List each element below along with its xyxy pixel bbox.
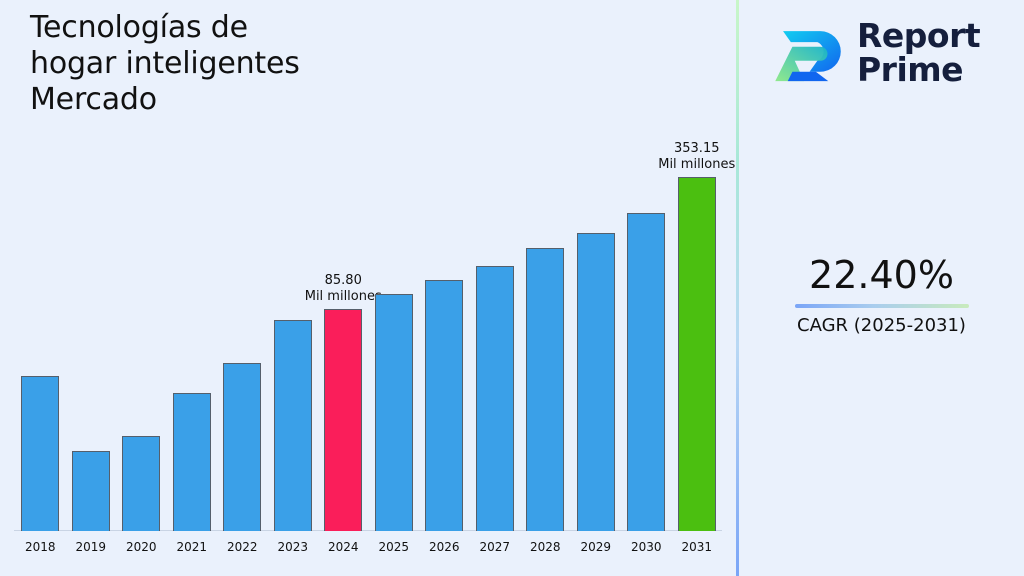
chart-panel: Tecnologías de hogar inteligentes Mercad… xyxy=(0,0,737,576)
infographic-page: Tecnologías de hogar inteligentes Mercad… xyxy=(0,0,1024,576)
brand-panel: Report Prime 22.40% CAGR (2025-2031) xyxy=(739,0,1024,576)
report-prime-logo: Report Prime xyxy=(769,14,980,92)
bar-fill-2018[interactable] xyxy=(21,376,59,531)
x-tick-2025: 2025 xyxy=(375,540,413,554)
cagr-label: CAGR (2025-2031) xyxy=(739,315,1024,337)
x-tick-2026: 2026 xyxy=(425,540,463,554)
bar-2019[interactable] xyxy=(72,451,110,531)
bar-value-amount-2024: 85.80 xyxy=(305,273,382,289)
bar-2028[interactable] xyxy=(526,248,564,531)
bar-fill-2022[interactable] xyxy=(223,363,261,531)
bar-fill-2031[interactable] xyxy=(678,177,716,531)
bar-2021[interactable] xyxy=(173,393,211,531)
bar-2027[interactable] xyxy=(476,266,514,531)
x-axis-line xyxy=(14,530,722,531)
x-tick-2029: 2029 xyxy=(577,540,615,554)
x-tick-2022: 2022 xyxy=(223,540,261,554)
bar-fill-2030[interactable] xyxy=(627,213,665,531)
x-tick-2028: 2028 xyxy=(526,540,564,554)
bar-fill-2020[interactable] xyxy=(122,436,160,531)
report-prime-logo-mark xyxy=(769,14,847,92)
bar-fill-2024[interactable] xyxy=(324,309,362,531)
x-tick-2027: 2027 xyxy=(476,540,514,554)
cagr-value: 22.40% xyxy=(739,252,1024,298)
x-tick-2031: 2031 xyxy=(678,540,716,554)
bar-fill-2025[interactable] xyxy=(375,294,413,531)
bar-value-label-2024: 85.80Mil millones xyxy=(305,273,382,305)
bar-2018[interactable] xyxy=(21,376,59,531)
bar-fill-2023[interactable] xyxy=(274,320,312,531)
bar-fill-2021[interactable] xyxy=(173,393,211,531)
bar-value-amount-2031: 353.15 xyxy=(658,141,735,157)
bar-fill-2029[interactable] xyxy=(577,233,615,531)
x-tick-2030: 2030 xyxy=(627,540,665,554)
bar-fill-2026[interactable] xyxy=(425,280,463,531)
bar-2030[interactable] xyxy=(627,213,665,531)
bar-value-unit-2024: Mil millones xyxy=(305,289,382,305)
bar-fill-2027[interactable] xyxy=(476,266,514,531)
x-tick-2019: 2019 xyxy=(72,540,110,554)
bar-2026[interactable] xyxy=(425,280,463,531)
bar-2023[interactable] xyxy=(274,320,312,531)
bar-2029[interactable] xyxy=(577,233,615,531)
bar-2024[interactable]: 85.80Mil millones xyxy=(324,309,362,531)
cagr-divider-rule xyxy=(795,304,969,308)
x-tick-2020: 2020 xyxy=(122,540,160,554)
x-tick-2018: 2018 xyxy=(21,540,59,554)
bar-fill-2019[interactable] xyxy=(72,451,110,531)
bar-value-unit-2031: Mil millones xyxy=(658,157,735,173)
bar-fill-2028[interactable] xyxy=(526,248,564,531)
bar-value-label-2031: 353.15Mil millones xyxy=(658,141,735,173)
cagr-block: 22.40% CAGR (2025-2031) xyxy=(739,252,1024,337)
bar-chart-plot: 20182019202020212022202385.80Mil millone… xyxy=(0,0,737,576)
x-tick-2024: 2024 xyxy=(324,540,362,554)
bar-2031[interactable]: 353.15Mil millones xyxy=(678,177,716,531)
x-tick-2023: 2023 xyxy=(274,540,312,554)
bar-2022[interactable] xyxy=(223,363,261,531)
report-prime-wordmark: Report Prime xyxy=(857,19,980,87)
bar-2025[interactable] xyxy=(375,294,413,531)
x-tick-2021: 2021 xyxy=(173,540,211,554)
bar-2020[interactable] xyxy=(122,436,160,531)
